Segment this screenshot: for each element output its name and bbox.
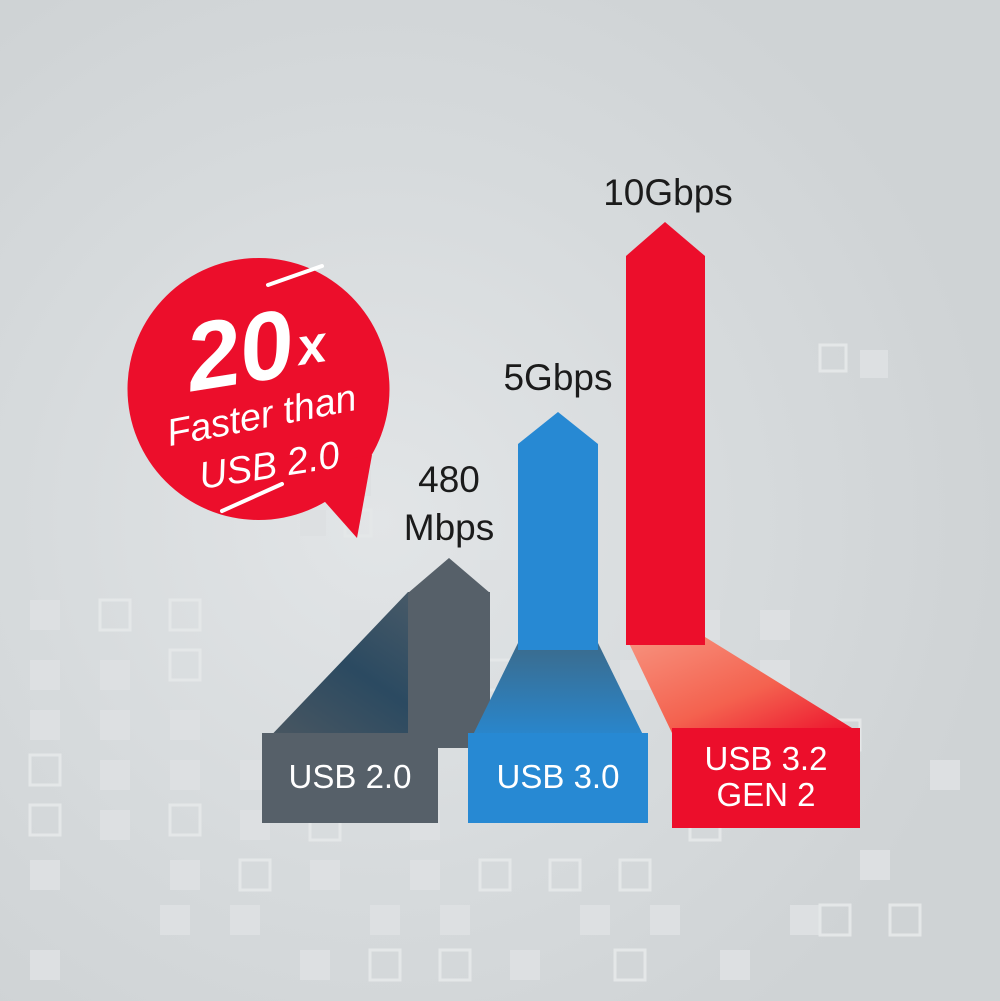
usb-speed-infographic: USB 2.0 USB 3.0 USB 3.2 GEN 2 480 Mbps 5… [0, 0, 1000, 1001]
speed-badge[interactable]: 20 x Faster than USB 2.0 [0, 0, 1000, 1001]
